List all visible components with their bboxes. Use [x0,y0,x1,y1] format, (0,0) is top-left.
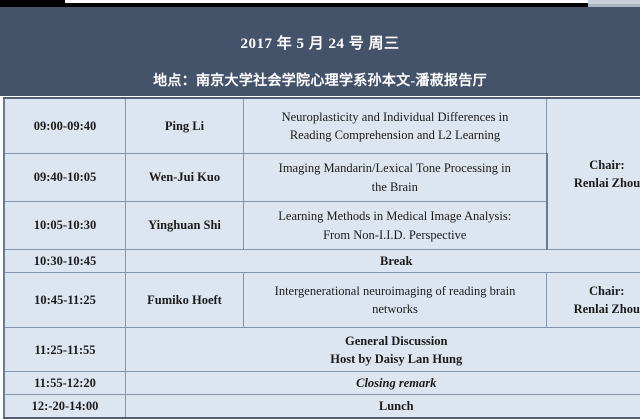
cell-title-line1: Learning Methods in Medical Image Analys… [247,207,543,225]
cell-lunch-label: Lunch [126,395,640,419]
cell-speaker: Yinghuan Shi [126,202,244,250]
cell-chair: Chair: Renlai Zhou [547,273,640,328]
table-row: 11:55-12:20 Closing remark [4,372,640,395]
screenshot-root: 2017 年 5 月 24 号 周三 地点：南京大学社会学院心理学系孙本文-潘菽… [0,0,640,404]
cell-time: 09:00-09:40 [4,98,126,154]
cell-chair-line2: Renlai Zhou [550,300,640,318]
cell-title-line1: Neuroplasticity and Individual Differenc… [247,108,543,126]
conference-banner: 2017 年 5 月 24 号 周三 地点：南京大学社会学院心理学系孙本文-潘菽… [0,7,640,96]
cell-speaker: Ping Li [126,98,244,154]
cell-title-line2: the Brain [247,178,543,196]
cell-session-line2: Host by Daisy Lan Hung [129,350,640,368]
cell-title-line1: Imaging Mandarin/Lexical Tone Processing… [247,159,543,177]
cell-title: Neuroplasticity and Individual Differenc… [244,98,547,154]
window-chrome-gap [65,0,588,3]
cell-time: 11:55-12:20 [4,372,126,395]
banner-venue: 地点：南京大学社会学院心理学系孙本文-潘菽报告厅 [0,70,640,90]
cell-time: 11:25-11:55 [4,328,126,372]
table-row: 09:00-09:40 Ping Li Neuroplasticity and … [4,98,640,154]
cell-time: 10:30-10:45 [4,250,126,273]
cell-time: 10:45-11:25 [4,273,126,328]
cell-title-line2: networks [247,300,543,318]
cell-session-label: Closing remark [126,372,640,395]
cell-title: Intergenerational neuroimaging of readin… [244,273,547,328]
cell-title-line2: Reading Comprehension and L2 Learning [247,126,543,144]
table-row: 10:45-11:25 Fumiko Hoeft Intergeneration… [4,273,640,328]
cell-chair: Chair: Renlai Zhou [547,98,640,250]
cell-break-label: Break [126,250,640,273]
table-row: 11:25-11:55 General Discussion Host by D… [4,328,640,372]
banner-date: 2017 年 5 月 24 号 周三 [0,32,640,53]
cell-chair-line1: Chair: [550,282,640,300]
cell-title: Learning Methods in Medical Image Analys… [244,202,547,250]
table-row: 10:30-10:45 Break [4,250,640,273]
cell-session-label: General Discussion Host by Daisy Lan Hun… [126,328,640,372]
cell-chair-line1: Chair: [551,156,640,174]
table-row: 12:-20-14:00 Lunch [4,395,640,419]
cell-title-line1: Intergenerational neuroimaging of readin… [247,282,543,300]
cell-time: 12:-20-14:00 [4,395,126,419]
cell-title: Imaging Mandarin/Lexical Tone Processing… [244,154,547,202]
cell-speaker: Fumiko Hoeft [126,273,244,328]
table-row: 10:05-10:30 Yinghuan Shi Learning Method… [4,202,640,250]
cell-speaker: Wen-Jui Kuo [126,154,244,202]
cell-time: 10:05-10:30 [4,202,126,250]
cell-chair-line2: Renlai Zhou [551,174,640,192]
cell-time: 09:40-10:05 [4,154,126,202]
cell-title-line2: From Non-I.I.D. Perspective [247,226,543,244]
schedule-table: 09:00-09:40 Ping Li Neuroplasticity and … [3,97,640,419]
table-row: 09:40-10:05 Wen-Jui Kuo Imaging Mandarin… [4,154,640,202]
cell-session-line1: General Discussion [129,332,640,350]
